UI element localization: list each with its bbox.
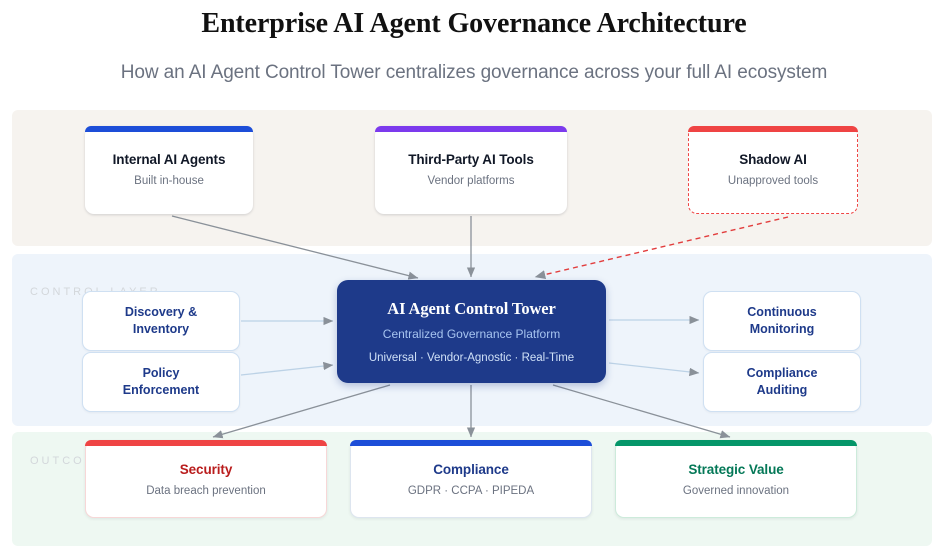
- accent-bar: [688, 126, 858, 132]
- accent-bar: [350, 440, 592, 446]
- page-subtitle: How an AI Agent Control Tower centralize…: [0, 62, 948, 84]
- card-subtitle: Built in-house: [134, 175, 204, 189]
- pill-continuous-monitoring[interactable]: Continuous Monitoring: [703, 291, 861, 351]
- accent-bar: [375, 126, 567, 132]
- pill-line2: Enforcement: [123, 383, 199, 397]
- outcome-subtitle: GDPR · CCPA · PIPEDA: [408, 485, 534, 497]
- card-title: Internal AI Agents: [113, 152, 226, 168]
- pill-line2: Auditing: [757, 383, 808, 397]
- card-outcome-security[interactable]: Security Data breach prevention: [85, 440, 327, 518]
- header: Enterprise AI Agent Governance Architect…: [0, 0, 948, 108]
- pill-policy-enforcement[interactable]: Policy Enforcement: [82, 352, 240, 412]
- pill-line2: Monitoring: [750, 322, 815, 336]
- card-internal-ai-agents[interactable]: Internal AI Agents Built in-house: [85, 126, 253, 214]
- control-tower-subtitle: Centralized Governance Platform: [383, 327, 560, 341]
- pill-line1: Discovery &: [125, 305, 197, 319]
- card-title: Third-Party AI Tools: [408, 152, 534, 168]
- card-subtitle: Vendor platforms: [428, 175, 515, 189]
- outcome-title: Strategic Value: [688, 462, 783, 477]
- control-tower-node[interactable]: AI Agent Control Tower Centralized Gover…: [337, 280, 606, 383]
- pill-line1: Continuous: [747, 305, 816, 319]
- outcome-subtitle: Governed innovation: [683, 485, 789, 497]
- pill-line1: Policy: [143, 366, 180, 380]
- control-tower-tags: Universal · Vendor-Agnostic · Real-Time: [369, 352, 574, 364]
- card-subtitle: Unapproved tools: [728, 175, 818, 189]
- pill-compliance-auditing[interactable]: Compliance Auditing: [703, 352, 861, 412]
- outcome-subtitle: Data breach prevention: [146, 485, 266, 497]
- control-tower-title: AI Agent Control Tower: [387, 299, 555, 319]
- outcome-title: Compliance: [433, 462, 509, 477]
- outcome-title: Security: [180, 462, 232, 477]
- page-title: Enterprise AI Agent Governance Architect…: [0, 8, 948, 40]
- accent-bar: [85, 126, 253, 132]
- pill-line2: Inventory: [133, 322, 189, 336]
- pill-line1: Compliance: [747, 366, 818, 380]
- card-outcome-strategic-value[interactable]: Strategic Value Governed innovation: [615, 440, 857, 518]
- card-shadow-ai[interactable]: Shadow AI Unapproved tools: [688, 126, 858, 214]
- accent-bar: [615, 440, 857, 446]
- card-third-party-ai-tools[interactable]: Third-Party AI Tools Vendor platforms: [375, 126, 567, 214]
- card-outcome-compliance[interactable]: Compliance GDPR · CCPA · PIPEDA: [350, 440, 592, 518]
- card-title: Shadow AI: [739, 152, 807, 168]
- pill-discovery-inventory[interactable]: Discovery & Inventory: [82, 291, 240, 351]
- accent-bar: [85, 440, 327, 446]
